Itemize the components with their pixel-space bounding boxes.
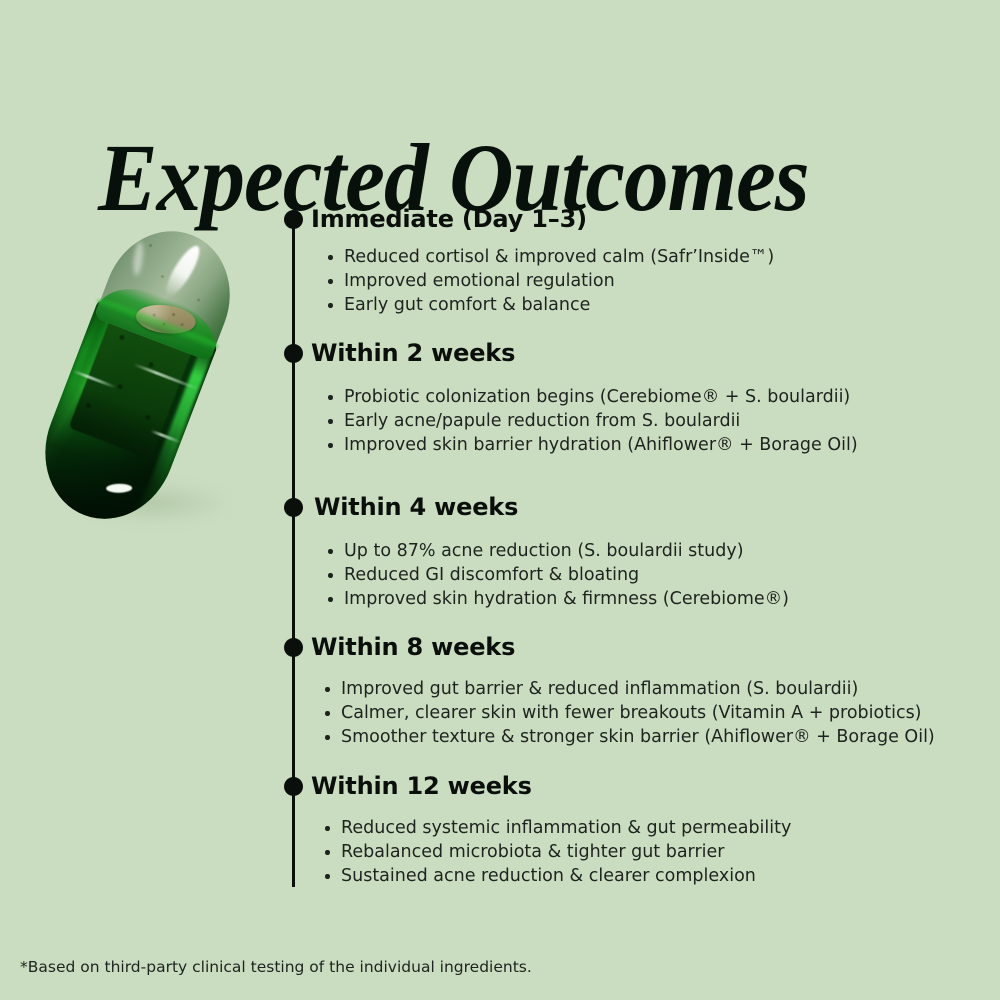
timeline-section-4: Within 8 weeks Improved gut barrier & re… xyxy=(311,633,935,749)
section-bullets-4: Improved gut barrier & reduced inflammat… xyxy=(308,677,935,749)
capsule-graphic xyxy=(24,212,251,538)
list-item: Reduced cortisol & improved calm (Safr’I… xyxy=(311,245,774,269)
list-item: Rebalanced microbiota & tighter gut barr… xyxy=(308,840,791,864)
list-item: Improved gut barrier & reduced inflammat… xyxy=(308,677,935,701)
list-item: Probiotic colonization begins (Cerebiome… xyxy=(311,385,858,409)
list-item: Sustained acne reduction & clearer compl… xyxy=(308,864,791,888)
list-item: Improved skin barrier hydration (Ahiflow… xyxy=(311,433,858,457)
list-item: Calmer, clearer skin with fewer breakout… xyxy=(308,701,935,725)
timeline-dot-1 xyxy=(284,210,303,229)
timeline-dot-2 xyxy=(284,344,303,363)
list-item: Up to 87% acne reduction (S. boulardii s… xyxy=(311,539,789,563)
capsule-product-image xyxy=(18,215,268,560)
timeline-dot-4 xyxy=(284,638,303,657)
section-heading-5: Within 12 weeks xyxy=(311,772,791,800)
capsule-cap-highlight xyxy=(160,242,204,300)
timeline-dot-5 xyxy=(284,777,303,796)
section-heading-1: Immediate (Day 1–3) xyxy=(311,205,774,233)
timeline-section-5: Within 12 weeks Reduced systemic inflamm… xyxy=(311,772,791,888)
timeline-dot-3 xyxy=(284,498,303,517)
infographic-canvas: Expected Outcomes Immediate (Day 1–3 xyxy=(0,0,1000,1000)
footnote-disclaimer: *Based on third-party clinical testing o… xyxy=(20,957,532,977)
section-bullets-3: Up to 87% acne reduction (S. boulardii s… xyxy=(311,539,789,611)
section-bullets-2: Probiotic colonization begins (Cerebiome… xyxy=(311,385,858,457)
list-item: Reduced systemic inflammation & gut perm… xyxy=(308,816,791,840)
section-bullets-5: Reduced systemic inflammation & gut perm… xyxy=(308,816,791,888)
section-heading-4: Within 8 weeks xyxy=(311,633,935,661)
list-item: Smoother texture & stronger skin barrier… xyxy=(308,725,935,749)
list-item: Early gut comfort & balance xyxy=(311,293,774,317)
section-heading-3: Within 4 weeks xyxy=(314,493,789,521)
list-item: Early acne/papule reduction from S. boul… xyxy=(311,409,858,433)
list-item: Improved emotional regulation xyxy=(311,269,774,293)
section-heading-2: Within 2 weeks xyxy=(311,339,858,367)
list-item: Reduced GI discomfort & bloating xyxy=(311,563,789,587)
capsule-cap-soft-highlight xyxy=(132,241,145,276)
timeline-section-2: Within 2 weeks Probiotic colonization be… xyxy=(311,339,858,457)
timeline-section-1: Immediate (Day 1–3) Reduced cortisol & i… xyxy=(311,205,774,317)
section-bullets-1: Reduced cortisol & improved calm (Safr’I… xyxy=(311,245,774,317)
timeline-section-3: Within 4 weeks Up to 87% acne reduction … xyxy=(314,493,789,611)
list-item: Improved skin hydration & firmness (Cere… xyxy=(311,587,789,611)
